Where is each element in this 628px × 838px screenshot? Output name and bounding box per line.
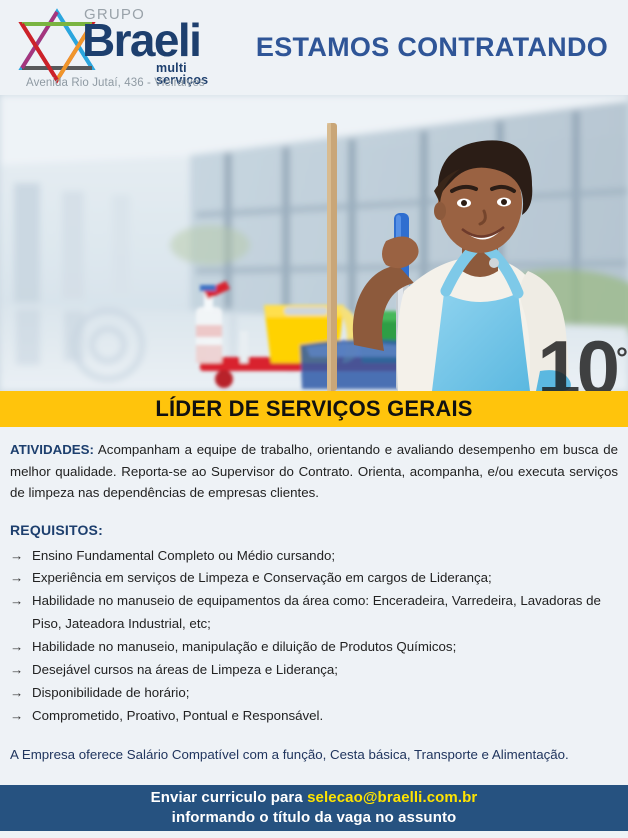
requirements-list: → Ensino Fundamental Completo ou Médio c… [10,545,618,728]
arrow-right-icon: → [10,705,32,728]
activities-label: ATIVIDADES: [10,442,94,457]
list-item: → Habilidade no manuseio, manipulação e … [10,636,618,659]
poster-body: ATIVIDADES: Acompanham a equipe de traba… [0,427,628,831]
job-title: LÍDER DE SERVIÇOS GERAIS [155,396,472,422]
company-address: Avenida Rio Jutaí, 436 - Vieiralves [26,78,205,90]
footer-subject-note: informando o título da vaga no assunto [172,809,457,828]
job-posting-poster: GRUPO Braeli multi serviços Avenida Rio … [0,0,628,838]
arrow-right-icon: → [10,590,32,613]
requirements-heading: REQUISITOS: [10,522,618,538]
list-item-label: Ensino Fundamental Completo ou Médio cur… [32,545,618,568]
list-item-label: Disponibilidade de horário; [32,682,618,705]
job-title-bar: LÍDER DE SERVIÇOS GERAIS [0,391,628,427]
brand-name: Braeli [82,17,200,63]
list-item-label: Desejável cursos na áreas de Limpeza e L… [32,659,618,682]
arrow-right-icon: → [10,682,32,705]
hero-photo-cleaning-professional: 10° [0,95,628,391]
list-item-label: Experiência em serviços de Limpeza e Con… [32,567,618,590]
footer-send-cv-line: Enviar curriculo para selecao@braelli.co… [151,789,478,808]
list-item-label: Habilidade no manuseio, manipulação e di… [32,636,618,659]
footer-send-cv-prefix: Enviar curriculo para [151,789,307,806]
list-item: → Disponibilidade de horário; [10,682,618,705]
headline-estamos-contratando: ESTAMOS CONTRATANDO [238,32,628,63]
list-item: → Desejável cursos na áreas de Limpeza e… [10,659,618,682]
hero-photo-illustration [0,95,628,391]
company-logo-block: GRUPO Braeli multi serviços Avenida Rio … [8,2,238,94]
arrow-right-icon: → [10,545,32,568]
arrow-right-icon: → [10,567,32,590]
list-item: → Ensino Fundamental Completo ou Médio c… [10,545,618,568]
list-item: → Experiência em serviços de Limpeza e C… [10,567,618,590]
list-item: → Habilidade no manuseio de equipamentos… [10,590,618,636]
list-item-label: Habilidade no manuseio de equipamentos d… [32,590,618,636]
list-item-label: Comprometido, Proativo, Pontual e Respon… [32,705,618,728]
poster-header: GRUPO Braeli multi serviços Avenida Rio … [0,0,628,95]
activities-paragraph: ATIVIDADES: Acompanham a equipe de traba… [10,439,618,504]
arrow-right-icon: → [10,636,32,659]
list-item: → Comprometido, Proativo, Pontual e Resp… [10,705,618,728]
activities-text: Acompanham a equipe de trabalho, orienta… [10,442,618,500]
poster-footer: Enviar curriculo para selecao@braelli.co… [0,785,628,831]
contact-email[interactable]: selecao@braelli.com.br [307,789,477,806]
closing-paragraph: A Empresa oferece Salário Compatível com… [10,744,618,765]
arrow-right-icon: → [10,659,32,682]
